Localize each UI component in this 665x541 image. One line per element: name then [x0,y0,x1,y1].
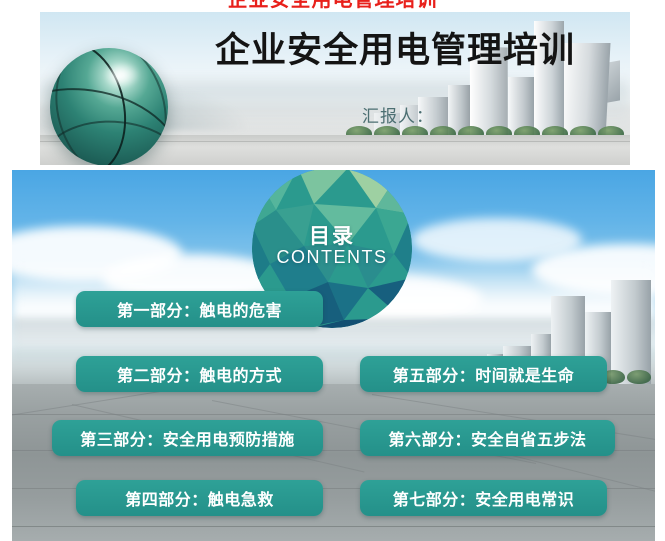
slide-plaza-ground [12,384,655,541]
banner-presenter-label: 汇报人： [362,102,434,127]
banner-title: 企业安全用电管理培训 [215,32,615,71]
section-button-7[interactable]: 第七部分：安全用电常识 [360,480,607,516]
section-button-4[interactable]: 第四部分：触电急救 [76,480,323,516]
section-button-1[interactable]: 第一部分：触电的危害 [76,291,323,327]
section-button-2[interactable]: 第二部分：触电的方式 [76,356,323,392]
teal-sphere-icon [50,48,168,165]
contents-badge-cn: 目录 [252,220,412,250]
title-banner: 企业安全用电管理培训 汇报人： [40,10,630,165]
section-button-6[interactable]: 第六部分：安全自省五步法 [360,420,615,456]
cutoff-headline-text: 企业安全用电管理培训 [0,0,665,12]
section-button-5[interactable]: 第五部分：时间就是生命 [360,356,607,392]
contents-slide: 目录 CONTENTS 第一部分：触电的危害 第二部分：触电的方式 第三部分：安… [12,170,655,541]
section-button-3[interactable]: 第三部分：安全用电预防措施 [52,420,323,456]
cutoff-headline-strip: 企业安全用电管理培训 [0,0,665,12]
contents-badge-en: CONTENTS [252,247,412,268]
